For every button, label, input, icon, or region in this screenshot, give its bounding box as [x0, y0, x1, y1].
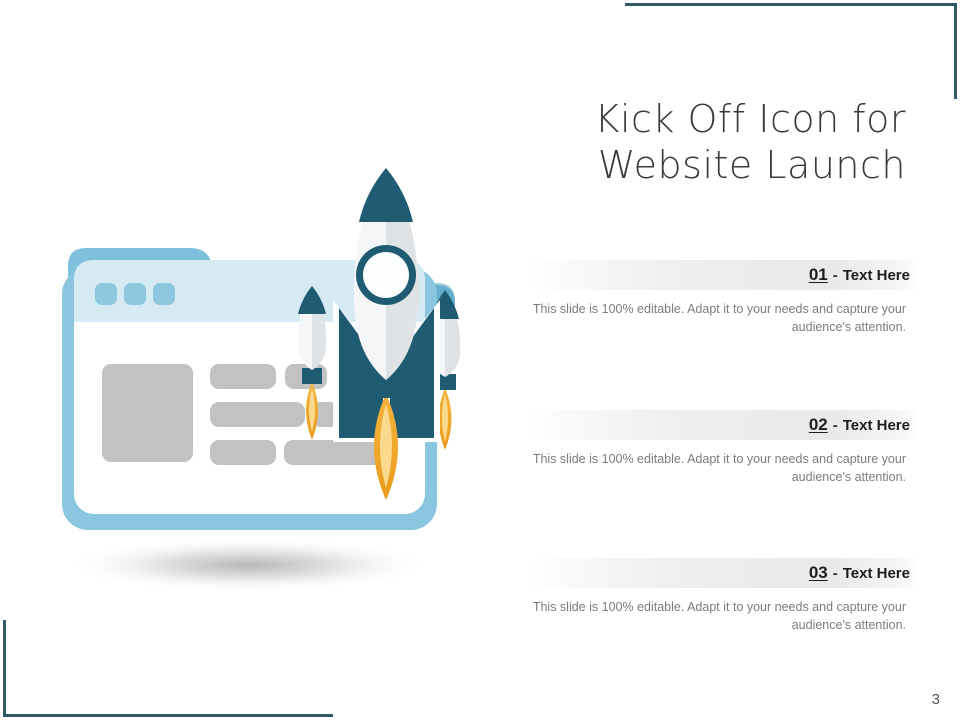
item-label: Text Here [843, 417, 910, 434]
item-label: Text Here [843, 565, 910, 582]
item-separator: - [833, 267, 838, 284]
window-dot-1 [95, 283, 117, 305]
page-number: 3 [932, 691, 940, 708]
content-block-r3c1 [210, 440, 276, 465]
item-header-bar[interactable]: 03 - Text Here [530, 558, 920, 588]
list-item: 03 - Text Here This slide is 100% editab… [520, 558, 920, 634]
content-block-r1c1 [210, 364, 276, 389]
item-description: This slide is 100% editable. Adapt it to… [520, 598, 920, 634]
main-rocket-porthole-glass [365, 254, 407, 296]
slide-canvas: Kick Off Icon for Website Launch 01 - Te… [0, 0, 960, 720]
list-item: 01 - Text Here This slide is 100% editab… [520, 260, 920, 336]
ground-shadow [63, 538, 433, 590]
window-dot-2 [124, 283, 146, 305]
item-separator: - [833, 417, 838, 434]
content-block-r2c1 [210, 402, 305, 427]
bottom-left-frame-vertical-line [3, 620, 6, 717]
item-separator: - [833, 565, 838, 582]
page-title: Kick Off Icon for Website Launch [520, 96, 920, 188]
main-rocket-nose-cone [359, 168, 413, 222]
left-booster-collar [302, 368, 322, 384]
item-header-bar[interactable]: 01 - Text Here [530, 260, 920, 290]
rocket-browser-illustration [40, 150, 480, 590]
item-number: 01 [809, 265, 828, 285]
list-item: 02 - Text Here This slide is 100% editab… [520, 410, 920, 486]
item-label: Text Here [843, 267, 910, 284]
bottom-left-frame-horizontal-line [3, 714, 333, 717]
window-dot-3 [153, 283, 175, 305]
item-header-bar[interactable]: 02 - Text Here [530, 410, 920, 440]
item-description: This slide is 100% editable. Adapt it to… [520, 450, 920, 486]
item-number: 02 [809, 415, 828, 435]
item-number: 03 [809, 563, 828, 583]
content-block-hero [102, 364, 193, 462]
top-right-frame-vertical-line [954, 3, 957, 99]
item-description: This slide is 100% editable. Adapt it to… [520, 300, 920, 336]
top-right-frame-horizontal-line [625, 3, 957, 6]
text-column: Kick Off Icon for Website Launch [520, 96, 920, 188]
